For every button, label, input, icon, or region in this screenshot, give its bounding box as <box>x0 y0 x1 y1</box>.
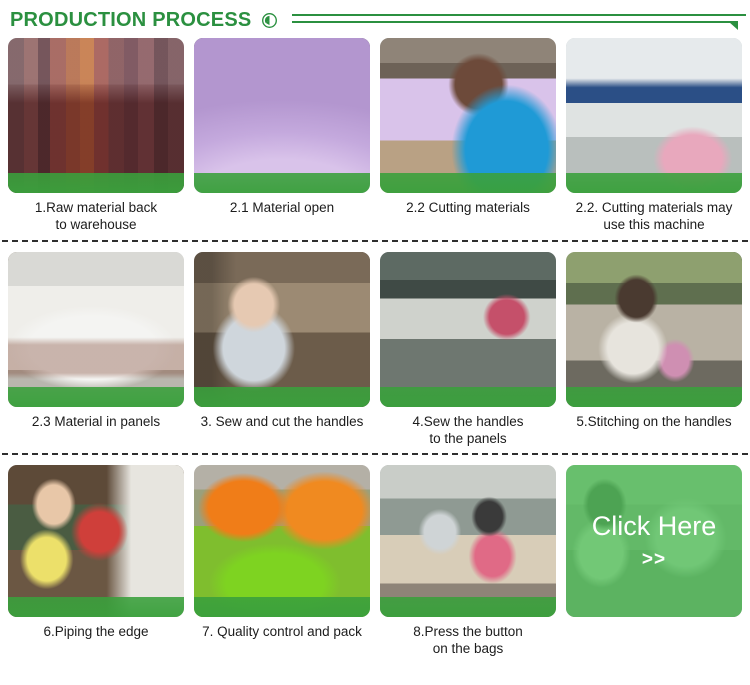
chevron-down-icon <box>729 22 738 30</box>
thumbnail-green-strip <box>566 173 742 193</box>
blue-cutting-machine-image <box>566 38 742 193</box>
step-caption: 5.Stitching on the handles <box>566 407 742 430</box>
step-caption: 4.Sew the handles to the panels <box>380 407 556 448</box>
process-step-card[interactable]: 5.Stitching on the handles <box>566 252 742 448</box>
process-step-card[interactable]: 6.Piping the edge <box>8 465 184 658</box>
process-row-1: 1.Raw material back to warehouse 2.1 Mat… <box>0 38 750 234</box>
raw-material-rolls-in-warehouse-image <box>8 38 184 193</box>
material-rolls-in-panels-rack-image <box>8 252 184 407</box>
header-rule-top <box>292 14 746 16</box>
step-thumbnail[interactable] <box>194 38 370 193</box>
worker-sewing-and-cutting-handles-image <box>194 252 370 407</box>
cta-label: Click Here <box>592 513 717 540</box>
purple-material-opened-on-table-image <box>194 38 370 193</box>
step-caption: 2.1 Material open <box>194 193 370 216</box>
thumbnail-green-strip <box>8 597 184 617</box>
step-caption: 3. Sew and cut the handles <box>194 407 370 430</box>
thumbnail-green-strip <box>8 387 184 407</box>
step-caption: 2.2 Cutting materials <box>380 193 556 216</box>
step-caption: 2.2. Cutting materials may use this mach… <box>566 193 742 234</box>
step-caption: 2.3 Material in panels <box>8 407 184 430</box>
thumbnail-green-strip <box>380 173 556 193</box>
step-thumbnail[interactable] <box>8 38 184 193</box>
step-thumbnail[interactable] <box>194 252 370 407</box>
process-step-card[interactable]: 8.Press the button on the bags <box>380 465 556 658</box>
step-caption: 6.Piping the edge <box>8 617 184 640</box>
step-thumbnail[interactable] <box>566 38 742 193</box>
process-step-card[interactable]: 7. Quality control and pack <box>194 465 370 658</box>
process-step-card[interactable]: 2.2. Cutting materials may use this mach… <box>566 38 742 234</box>
page-title: PRODUCTION PROCESS <box>10 8 251 30</box>
click-here-button[interactable]: Click Here >> <box>566 465 742 617</box>
step-thumbnail[interactable] <box>380 252 556 407</box>
thumbnail-green-strip <box>566 387 742 407</box>
thumbnail-green-strip <box>194 387 370 407</box>
step-thumbnail[interactable] <box>8 252 184 407</box>
woman-piping-the-edge-image <box>8 465 184 617</box>
thumbnail-green-strip <box>380 597 556 617</box>
cta-content: Click Here >> <box>566 465 742 617</box>
step-thumbnail[interactable] <box>194 465 370 617</box>
thumbnail-green-strip <box>194 597 370 617</box>
process-step-card[interactable]: 3. Sew and cut the handles <box>194 252 370 448</box>
step-caption: 7. Quality control and pack <box>194 617 370 640</box>
worker-stitching-handles-image <box>566 252 742 407</box>
thumbnail-green-strip <box>8 173 184 193</box>
step-thumbnail[interactable] <box>380 38 556 193</box>
worker-cutting-materials-image <box>380 38 556 193</box>
clock-arrow-icon <box>261 12 278 29</box>
section-header: PRODUCTION PROCESS <box>0 0 750 38</box>
process-step-card[interactable]: 4.Sew the handles to the panels <box>380 252 556 448</box>
process-step-card[interactable]: 2.1 Material open <box>194 38 370 234</box>
girl-pressing-buttons-on-bags-image <box>380 465 556 617</box>
sewing-machines-row-image <box>380 252 556 407</box>
thumbnail-green-strip <box>380 387 556 407</box>
process-step-card[interactable]: 2.3 Material in panels <box>8 252 184 448</box>
header-divider-rules <box>292 12 746 26</box>
step-caption: 8.Press the button on the bags <box>380 617 556 658</box>
cta-arrows-icon: >> <box>642 550 666 569</box>
step-thumbnail[interactable] <box>380 465 556 617</box>
step-thumbnail[interactable] <box>566 252 742 407</box>
header-rule-bottom <box>292 21 738 23</box>
process-step-card[interactable]: 2.2 Cutting materials <box>380 38 556 234</box>
thumbnail-green-strip <box>194 173 370 193</box>
process-row-3: 6.Piping the edge 7. Quality control and… <box>0 465 750 658</box>
orange-and-green-bags-stacked-image <box>194 465 370 617</box>
process-row-2: 2.3 Material in panels 3. Sew and cut th… <box>0 252 750 448</box>
row-spacer <box>0 455 750 465</box>
step-caption: 1.Raw material back to warehouse <box>8 193 184 234</box>
row-spacer <box>0 242 750 252</box>
process-step-card[interactable]: 1.Raw material back to warehouse <box>8 38 184 234</box>
click-here-cta-cell[interactable]: Click Here >> <box>566 465 742 658</box>
step-thumbnail[interactable] <box>8 465 184 617</box>
